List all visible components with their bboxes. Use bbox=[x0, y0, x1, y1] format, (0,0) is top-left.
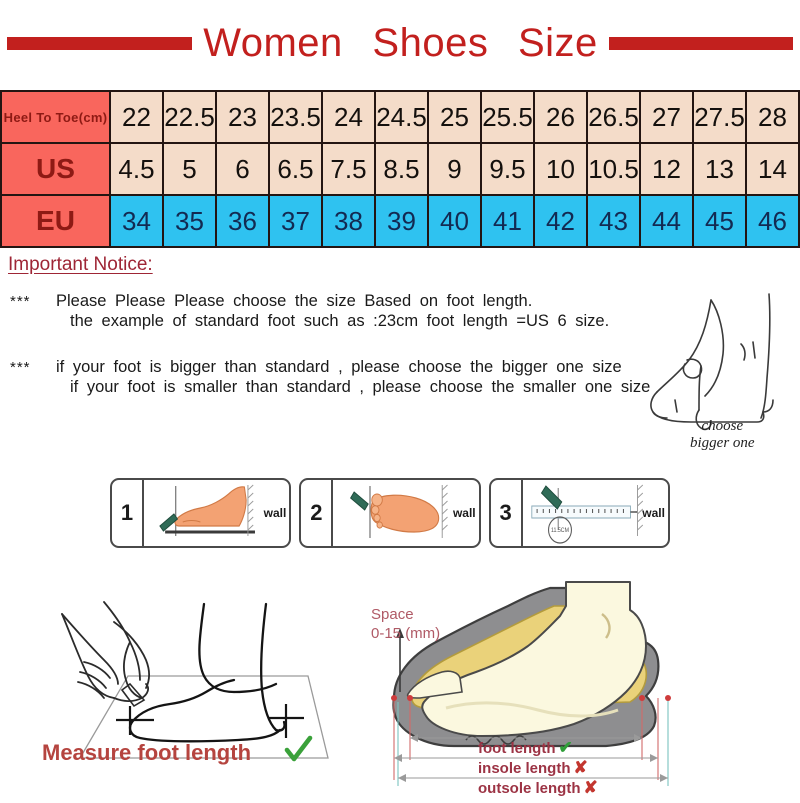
cell-us-11: 13 bbox=[693, 143, 746, 195]
title-rule-left bbox=[7, 37, 192, 50]
green-check-icon bbox=[283, 735, 313, 765]
row-label-eu: EU bbox=[1, 195, 110, 247]
table-row-us: US 4.5 5 6 6.5 7.5 8.5 9 9.5 10 10.5 12 … bbox=[1, 143, 799, 195]
size-chart-page: Women Shoes Size Heel To Toe(cm) 22 22.5… bbox=[0, 0, 800, 800]
choose-bigger-one-caption: choose bigger one bbox=[690, 418, 755, 452]
notice-text-3: if your foot is bigger than standard , p… bbox=[56, 358, 690, 377]
notice-stars-3: *** bbox=[10, 359, 56, 376]
row-label-us: US bbox=[1, 143, 110, 195]
length-annotations: foot length✔ insole length✘ outsole leng… bbox=[478, 738, 598, 798]
cell-eu-8: 42 bbox=[534, 195, 587, 247]
cell-eu-6: 40 bbox=[428, 195, 481, 247]
cell-eu-7: 41 bbox=[481, 195, 534, 247]
cell-cm-2: 23 bbox=[216, 91, 269, 143]
cell-us-6: 9 bbox=[428, 143, 481, 195]
annotation-outsole-length: outsole length✘ bbox=[478, 778, 598, 798]
step-panel-1: 1 bbox=[110, 478, 291, 548]
cell-us-10: 12 bbox=[640, 143, 693, 195]
cell-eu-4: 38 bbox=[322, 195, 375, 247]
cell-eu-5: 39 bbox=[375, 195, 428, 247]
cell-us-5: 8.5 bbox=[375, 143, 428, 195]
insole-length-cross-icon: ✘ bbox=[574, 758, 588, 777]
cell-cm-3: 23.5 bbox=[269, 91, 322, 143]
cell-us-3: 6.5 bbox=[269, 143, 322, 195]
row-label-heel-to-toe: Heel To Toe(cm) bbox=[1, 91, 110, 143]
cell-cm-6: 25 bbox=[428, 91, 481, 143]
step-panel-3: 3 bbox=[489, 478, 670, 548]
notice-line-2: the example of standard foot such as :23… bbox=[10, 312, 690, 331]
title-rule-right bbox=[609, 37, 793, 50]
cell-cm-10: 27 bbox=[640, 91, 693, 143]
cell-eu-3: 37 bbox=[269, 195, 322, 247]
notice-line-1: *** Please Please Please choose the size… bbox=[10, 292, 690, 311]
size-conversion-table: Heel To Toe(cm) 22 22.5 23 23.5 24 24.5 … bbox=[0, 90, 800, 248]
cell-us-2: 6 bbox=[216, 143, 269, 195]
foot-length-check-icon: ✔ bbox=[558, 738, 572, 757]
cell-eu-9: 43 bbox=[587, 195, 640, 247]
annotation-foot-length: foot length✔ bbox=[478, 738, 598, 758]
step-panel-2: 2 bbox=[299, 478, 480, 548]
title-word-women: Women bbox=[203, 21, 343, 65]
table-row-eu: EU 34 35 36 37 38 39 40 41 42 43 44 45 4… bbox=[1, 195, 799, 247]
cell-cm-0: 22 bbox=[110, 91, 163, 143]
annotation-outsole-length-label: outsole length bbox=[478, 780, 581, 797]
notice-stars-1: *** bbox=[10, 293, 56, 310]
notice-text-4: if your foot is smaller than standard , … bbox=[56, 378, 690, 397]
choose-caption-line1: choose bbox=[690, 418, 755, 435]
title-word-shoes: Shoes bbox=[372, 21, 488, 65]
annotation-foot-length-label: foot length bbox=[478, 740, 555, 757]
cell-cm-8: 26 bbox=[534, 91, 587, 143]
notice-text-block: *** Please Please Please choose the size… bbox=[10, 292, 690, 398]
title-word-size: Size bbox=[518, 21, 598, 65]
cell-eu-12: 46 bbox=[746, 195, 799, 247]
notice-line-4: if your foot is smaller than standard , … bbox=[10, 378, 690, 397]
step-art-2: wall bbox=[333, 480, 478, 546]
notice-line-3: *** if your foot is bigger than standard… bbox=[10, 358, 690, 377]
cell-cm-4: 24 bbox=[322, 91, 375, 143]
cell-cm-12: 28 bbox=[746, 91, 799, 143]
notice-text-2: the example of standard foot such as :23… bbox=[56, 312, 690, 331]
notice-spacer bbox=[10, 332, 690, 358]
cell-us-7: 9.5 bbox=[481, 143, 534, 195]
step-number-1: 1 bbox=[112, 480, 144, 546]
cell-us-12: 14 bbox=[746, 143, 799, 195]
cell-eu-0: 34 bbox=[110, 195, 163, 247]
cell-eu-1: 35 bbox=[163, 195, 216, 247]
space-annotation: Space 0-15 (mm) bbox=[371, 606, 440, 644]
step-number-3: 3 bbox=[491, 480, 523, 546]
space-label-line1: Space bbox=[371, 606, 440, 625]
page-title-row: Women Shoes Size bbox=[0, 14, 800, 72]
cell-cm-5: 24.5 bbox=[375, 91, 428, 143]
cell-cm-11: 27.5 bbox=[693, 91, 746, 143]
step-art-3: 11.5CM wall bbox=[523, 480, 668, 546]
cell-us-8: 10 bbox=[534, 143, 587, 195]
cell-cm-1: 22.5 bbox=[163, 91, 216, 143]
wall-label-1: wall bbox=[264, 506, 287, 520]
step-art-3-wrap: 3 bbox=[491, 480, 668, 546]
wall-label-3: wall bbox=[642, 506, 665, 520]
outsole-length-cross-icon: ✘ bbox=[584, 778, 598, 797]
cell-eu-2: 36 bbox=[216, 195, 269, 247]
page-title: Women Shoes Size bbox=[194, 21, 607, 66]
table-row-heel-to-toe: Heel To Toe(cm) 22 22.5 23 23.5 24 24.5 … bbox=[1, 91, 799, 143]
cell-us-9: 10.5 bbox=[587, 143, 640, 195]
cell-cm-9: 26.5 bbox=[587, 91, 640, 143]
measurement-steps: 1 bbox=[110, 478, 670, 548]
cell-eu-11: 45 bbox=[693, 195, 746, 247]
notice-text-1: Please Please Please choose the size Bas… bbox=[56, 292, 690, 311]
cell-us-1: 5 bbox=[163, 143, 216, 195]
cell-cm-7: 25.5 bbox=[481, 91, 534, 143]
cell-us-4: 7.5 bbox=[322, 143, 375, 195]
annotation-insole-length-label: insole length bbox=[478, 760, 571, 777]
measure-check-icon bbox=[283, 735, 313, 770]
important-notice-heading: Important Notice: bbox=[8, 254, 153, 276]
annotation-insole-length: insole length✘ bbox=[478, 758, 598, 778]
cell-eu-10: 44 bbox=[640, 195, 693, 247]
step-number-2: 2 bbox=[301, 480, 333, 546]
wall-label-2: wall bbox=[453, 506, 476, 520]
cell-us-0: 4.5 bbox=[110, 143, 163, 195]
measure-foot-length-label: Measure foot length bbox=[42, 740, 251, 766]
ruler-badge-text: 11.5CM bbox=[551, 528, 569, 534]
space-label-line2: 0-15 (mm) bbox=[371, 625, 440, 644]
choose-caption-line2: bigger one bbox=[690, 435, 755, 452]
step-art-1: wall bbox=[144, 480, 289, 546]
